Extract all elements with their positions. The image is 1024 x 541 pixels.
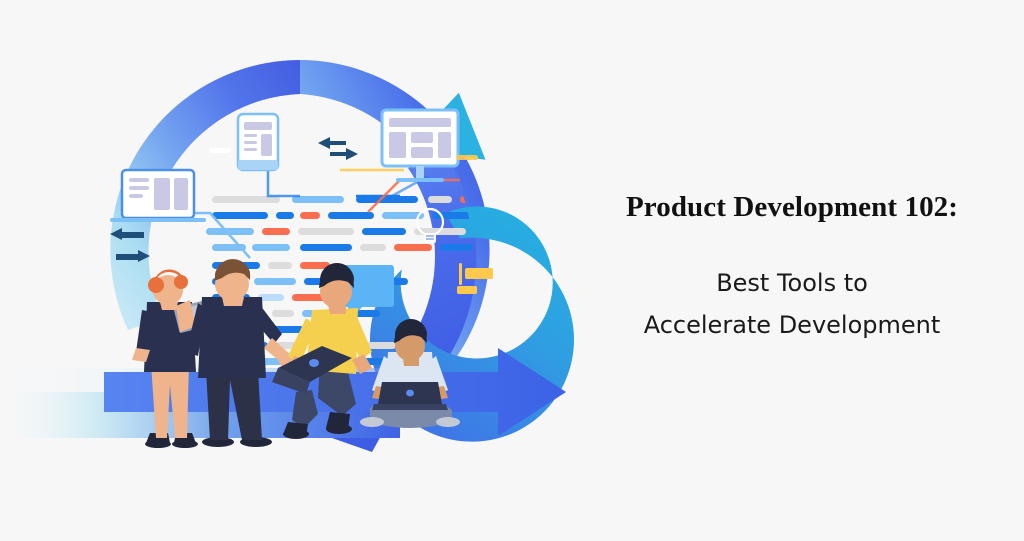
exchange-arrows-icon [318, 137, 358, 160]
laptop-seated [372, 382, 448, 410]
subtitle-line-1: Best Tools to [644, 262, 941, 304]
text-panel: Product Development 102: Best Tools to A… [560, 0, 1024, 536]
accent-dash [209, 148, 231, 153]
page-subtitle: Best Tools to Accelerate Development [644, 262, 941, 346]
subtitle-line-2: Accelerate Development [644, 304, 941, 346]
tablet-device-icon [238, 114, 278, 170]
product-development-teamwork-illustration [0, 0, 600, 536]
banner-root: Product Development 102: Best Tools to A… [0, 0, 1024, 536]
laptop-device-icon [110, 170, 206, 222]
page-title: Product Development 102: [626, 191, 958, 224]
